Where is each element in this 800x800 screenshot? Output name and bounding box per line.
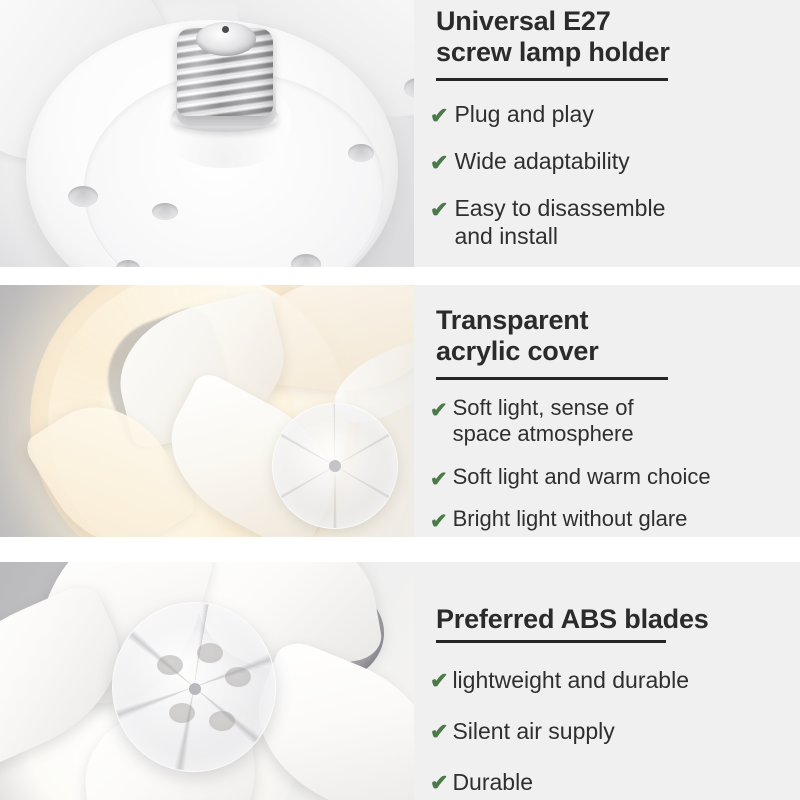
list-item: ✔ Soft light, sense of space atmosphere (430, 395, 794, 448)
feature-bullet-list: ✔ Plug and play ✔ Wide adaptability ✔ Ea… (430, 100, 794, 267)
panel-title: Universal E27 screw lamp holder (436, 6, 670, 68)
check-icon: ✔ (430, 666, 448, 692)
check-icon: ✔ (430, 464, 448, 490)
feature-panel-abs-blades: Preferred ABS blades ✔ lightweight and d… (0, 562, 800, 800)
hub-center (329, 460, 341, 472)
mounting-hole (152, 203, 178, 220)
list-item: ✔ Bright light without glare (430, 506, 794, 532)
list-item: ✔ Soft light and warm choice (430, 464, 794, 490)
bullet-text: Easy to disassemble and install (454, 194, 665, 250)
product-photo-acrylic-cover (0, 285, 414, 537)
screw-contact-dot (222, 26, 229, 33)
feature-copy-block: Transparent acrylic cover ✔ Soft light, … (414, 285, 800, 537)
list-item: ✔ Durable (430, 768, 794, 796)
feature-panel-e27-lamp-holder: Universal E27 screw lamp holder ✔ Plug a… (0, 0, 800, 267)
mounting-hole (68, 186, 98, 207)
bullet-text: Silent air supply (452, 717, 614, 745)
check-icon: ✔ (430, 194, 448, 221)
bullet-text: Bright light without glare (453, 506, 688, 532)
bullet-text: lightweight and durable (452, 666, 689, 694)
bullet-text: Wide adaptability (454, 147, 629, 175)
feature-panel-transparent-acrylic-cover: Transparent acrylic cover ✔ Soft light, … (0, 285, 800, 537)
bullet-text: Plug and play (454, 100, 593, 128)
check-icon: ✔ (430, 147, 448, 174)
list-item: ✔ lightweight and durable (430, 666, 794, 694)
feature-copy-block: Preferred ABS blades ✔ lightweight and d… (414, 562, 800, 800)
panel-title: Preferred ABS blades (436, 604, 709, 635)
bullet-text: Durable (452, 768, 533, 796)
product-photo-abs-blades (0, 562, 414, 800)
title-underline (436, 377, 668, 380)
feature-bullet-list: ✔ lightweight and durable ✔ Silent air s… (430, 666, 794, 800)
check-icon: ✔ (430, 717, 448, 743)
list-item: ✔ Easy to disassemble and install (430, 194, 794, 250)
hub-center (189, 683, 201, 695)
infographic-sheet: Universal E27 screw lamp holder ✔ Plug a… (0, 0, 800, 800)
title-underline (436, 78, 668, 81)
fan-hub (272, 403, 398, 529)
title-underline (436, 640, 666, 643)
bullet-text: Soft light and warm choice (453, 464, 711, 490)
fan-hub (112, 602, 276, 772)
check-icon: ✔ (430, 506, 448, 532)
feature-copy-block: Universal E27 screw lamp holder ✔ Plug a… (414, 0, 800, 267)
bullet-text: Soft light, sense of space atmosphere (453, 395, 634, 448)
list-item: ✔ Silent air supply (430, 717, 794, 745)
panel-title: Transparent acrylic cover (436, 305, 599, 367)
feature-bullet-list: ✔ Soft light, sense of space atmosphere … (430, 395, 794, 537)
check-icon: ✔ (430, 100, 448, 127)
check-icon: ✔ (430, 768, 448, 794)
list-item: ✔ Plug and play (430, 100, 794, 128)
check-icon: ✔ (430, 395, 448, 421)
list-item: ✔ Wide adaptability (430, 147, 794, 175)
product-photo-e27-lamp-holder (0, 0, 414, 267)
mounting-hole (348, 144, 374, 162)
